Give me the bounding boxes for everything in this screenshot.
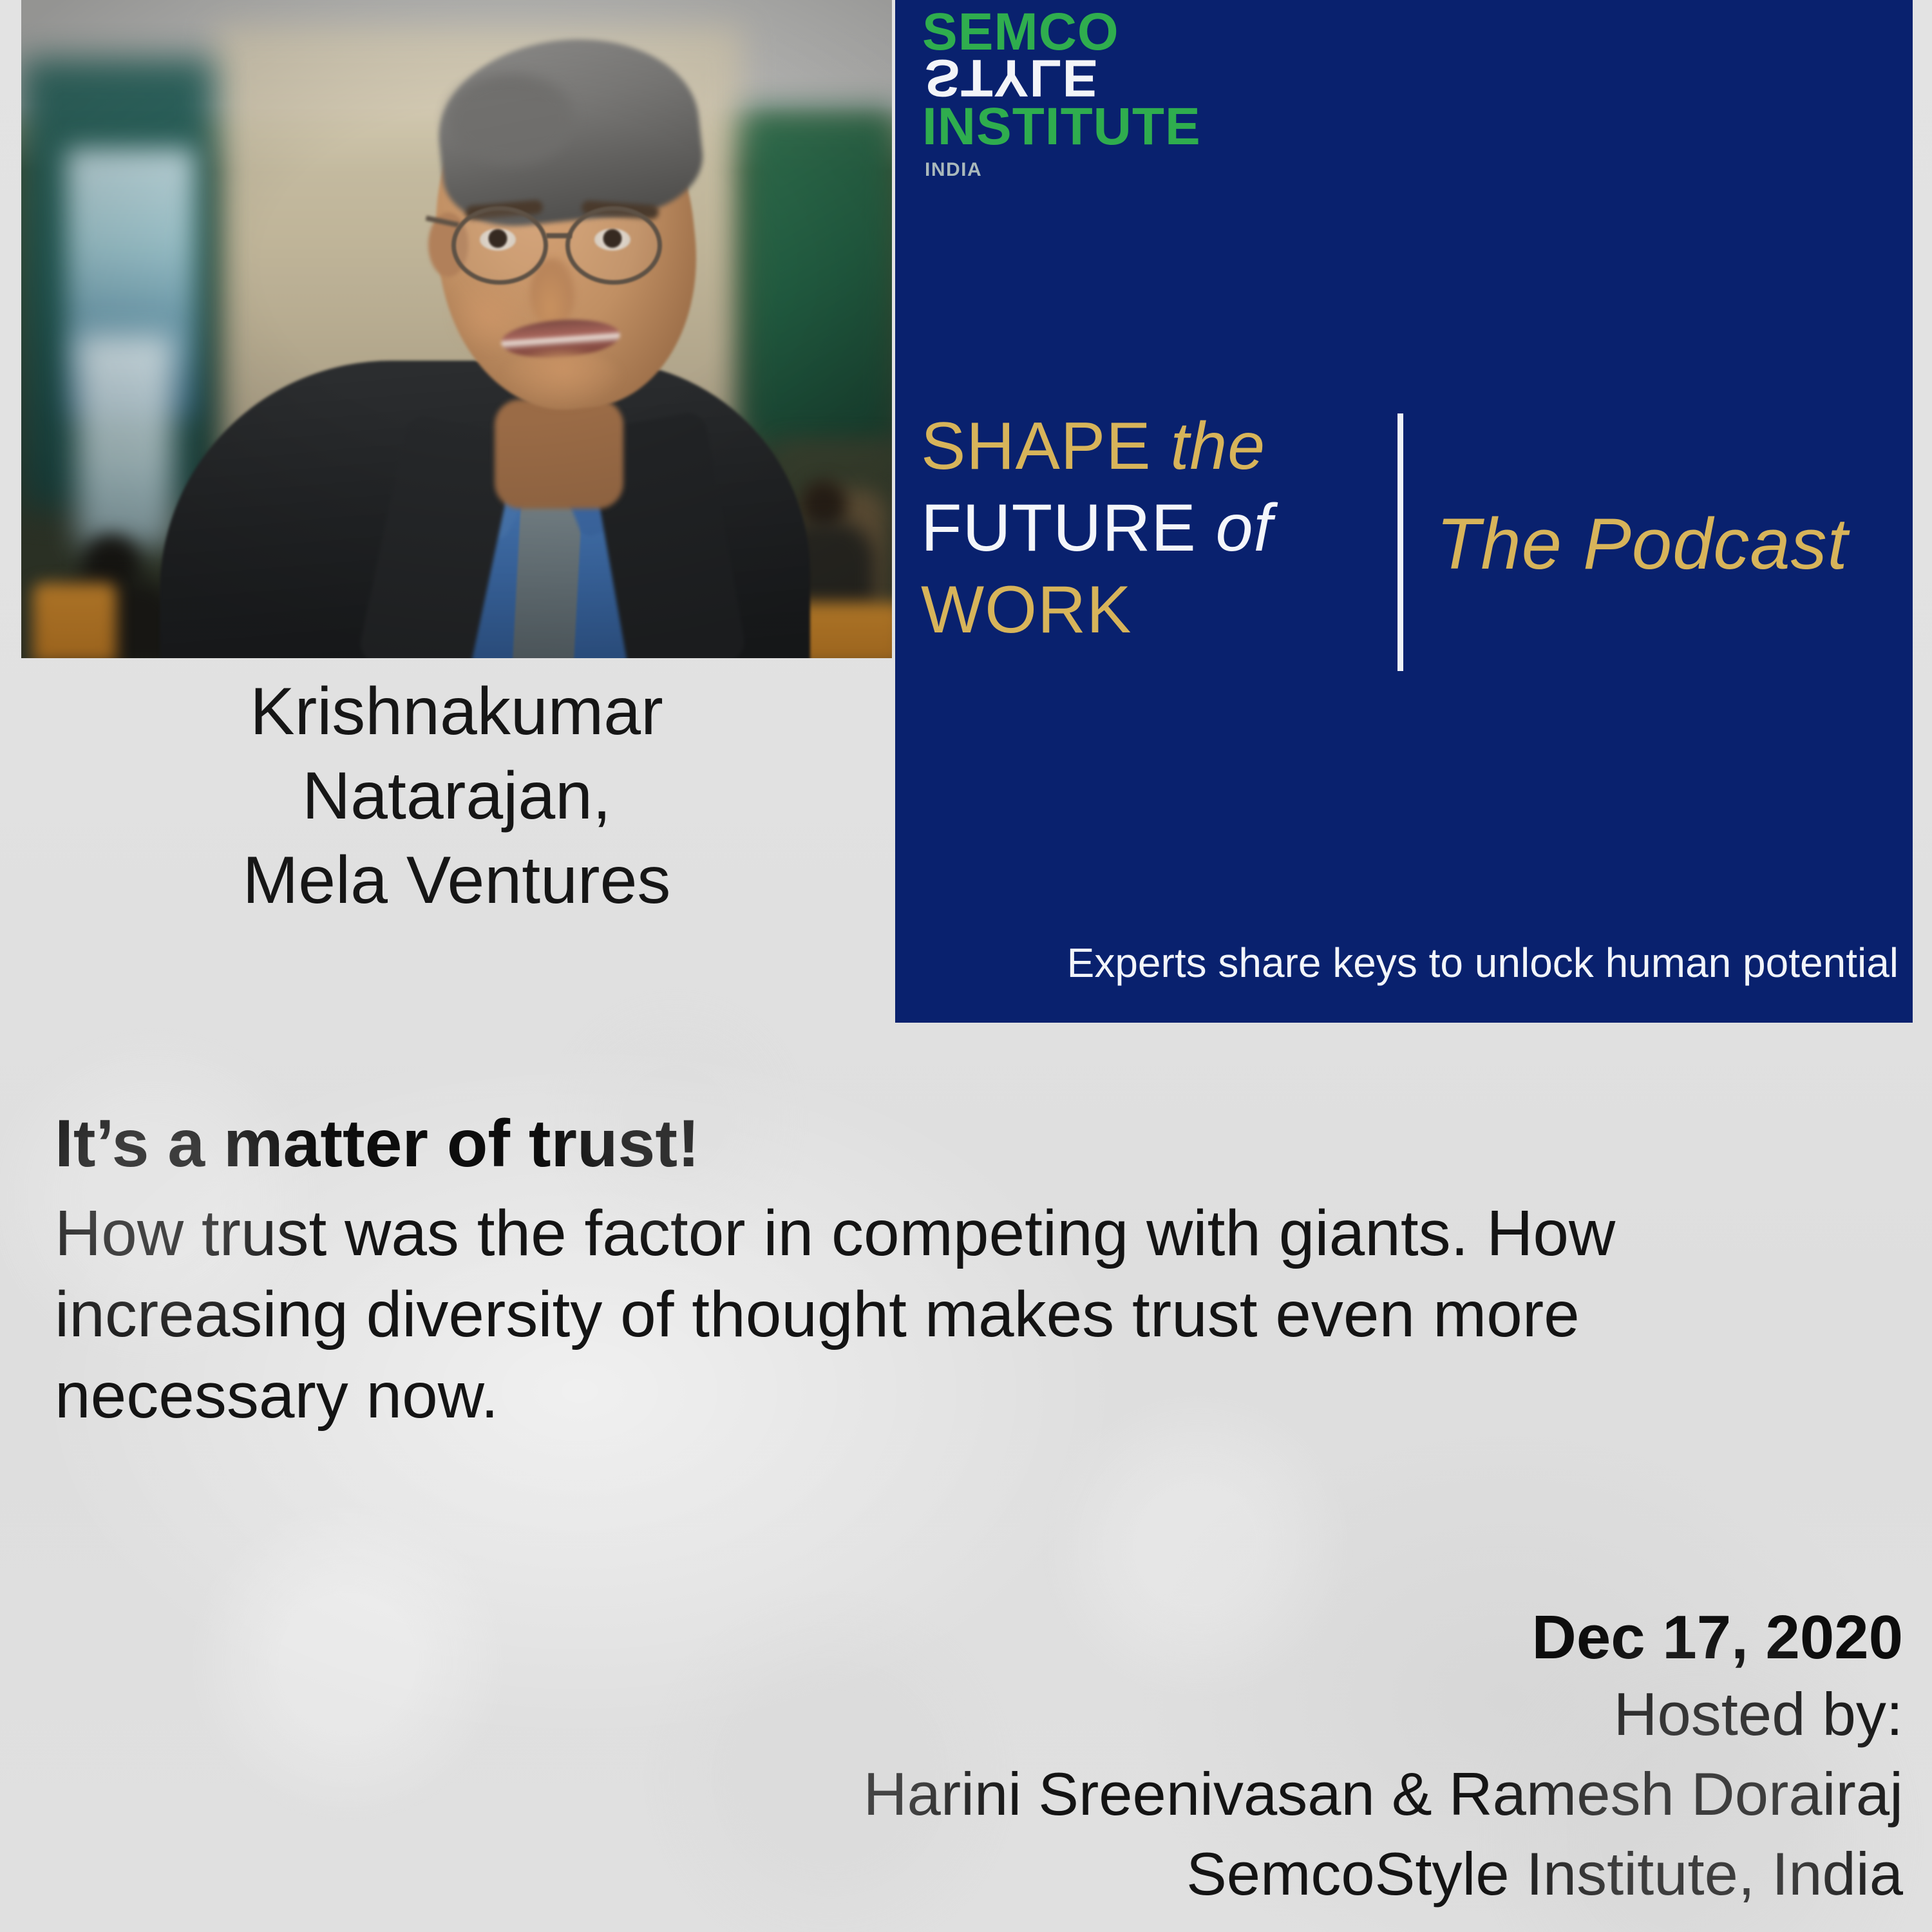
podcast-tagline: Experts share keys to unlock human poten…: [895, 939, 1899, 987]
guest-last-name: Natarajan,: [21, 754, 892, 838]
episode-headline: It’s a matter of trust!: [55, 1104, 1806, 1184]
wordmark-work: WORK: [921, 573, 1132, 647]
guest-photo: [21, 0, 892, 658]
wordmark-line-3: WORK: [921, 569, 1372, 651]
logo-word-style-wrapper: STYLE: [925, 53, 1283, 104]
wordmark-shape: SHAPE: [921, 409, 1151, 484]
brand-panel: SEMCO STYLE INSTITUTE INDIA SHAPE the FU…: [895, 0, 1913, 1023]
wordmark-line-2: FUTURE of: [921, 488, 1372, 569]
credits-block: Dec 17, 2020 Hosted by: Harini Sreenivas…: [357, 1600, 1903, 1914]
guest-company: Mela Ventures: [21, 838, 892, 923]
photo-vignette: [21, 0, 892, 658]
podcast-promo-poster: SEMCO STYLE INSTITUTE INDIA SHAPE the FU…: [0, 0, 1932, 1932]
vertical-divider: [1397, 413, 1403, 671]
episode-date: Dec 17, 2020: [357, 1600, 1903, 1674]
podcast-title-block: SHAPE the FUTURE of WORK The Podcast: [921, 406, 1887, 676]
logo-word-institute: INSTITUTE: [922, 102, 1283, 151]
host-names: Harini Sreenivasan & Ramesh Dorairaj: [357, 1754, 1903, 1834]
logo-region-india: INDIA: [925, 159, 1283, 181]
shape-the-future-of-work-wordmark: SHAPE the FUTURE of WORK: [921, 406, 1372, 651]
episode-body-text: How trust was the factor in competing wi…: [55, 1193, 1806, 1436]
hosted-by-label: Hosted by:: [357, 1674, 1903, 1754]
semco-style-institute-logo: SEMCO STYLE INSTITUTE INDIA: [922, 8, 1283, 181]
host-organization: SemcoStyle Institute, India: [357, 1834, 1903, 1914]
wordmark-line-1: SHAPE the: [921, 406, 1372, 488]
wordmark-the: the: [1170, 409, 1265, 484]
guest-first-name: Krishnakumar: [21, 670, 892, 754]
podcast-label: The Podcast: [1436, 502, 1887, 585]
logo-word-style: STYLE: [925, 53, 1098, 102]
wordmark-future: FUTURE: [921, 491, 1197, 565]
guest-name-block: Krishnakumar Natarajan, Mela Ventures: [21, 670, 892, 923]
episode-description-block: It’s a matter of trust! How trust was th…: [55, 1104, 1806, 1436]
wordmark-of: of: [1216, 491, 1273, 565]
